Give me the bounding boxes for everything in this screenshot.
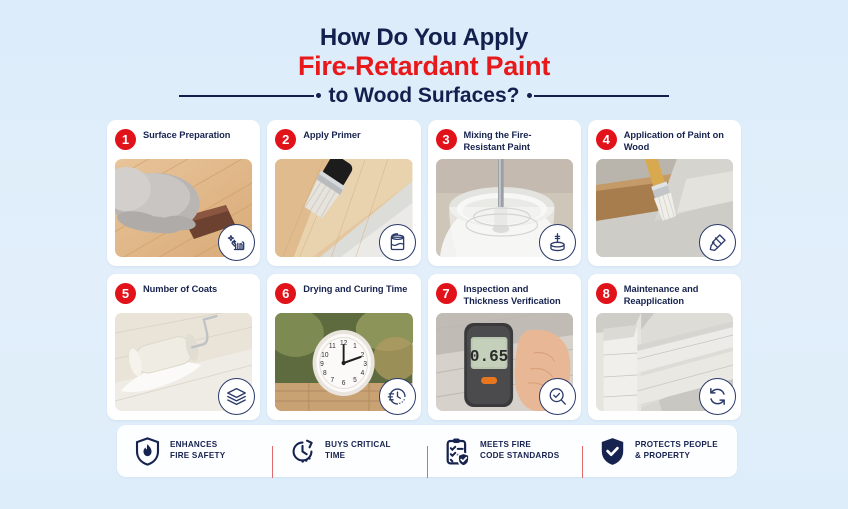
svg-text:2: 2 bbox=[361, 352, 365, 359]
step-number-badge: 8 bbox=[596, 283, 617, 304]
step-card-6[interactable]: 6 Drying and Curing Time 1212 bbox=[267, 274, 420, 420]
step-number-badge: 2 bbox=[275, 129, 296, 150]
benefit-label: ENHANCES FIRE SAFETY bbox=[170, 440, 225, 461]
step-number-badge: 6 bbox=[275, 283, 296, 304]
clipboard-shield-icon bbox=[444, 437, 471, 466]
paint-brush-icon bbox=[699, 224, 736, 261]
benefit-label: PROTECTS PEOPLE & PROPERTY bbox=[635, 440, 718, 461]
svg-text:0.65: 0.65 bbox=[469, 347, 507, 367]
step-title: Surface Preparation bbox=[143, 128, 230, 142]
svg-text:4: 4 bbox=[361, 370, 365, 377]
sparkle-hand-icon bbox=[218, 224, 255, 261]
step-number-badge: 1 bbox=[115, 129, 136, 150]
step-title: Mixing the Fire-Resistant Paint bbox=[464, 128, 573, 153]
title-line-2-highlight: Fire-Retardant Paint bbox=[0, 51, 848, 82]
step-title: Inspection and Thickness Verification bbox=[464, 282, 573, 307]
paint-mixer-icon bbox=[539, 224, 576, 261]
svg-text:6: 6 bbox=[342, 380, 346, 387]
clock-arrow-icon bbox=[289, 437, 316, 466]
steps-grid: 1 Surface Preparation bbox=[107, 120, 741, 420]
shield-check-icon bbox=[599, 437, 626, 466]
benefit-item-fire-safety: ENHANCES FIRE SAFETY bbox=[117, 437, 272, 466]
clock-speed-icon bbox=[379, 378, 416, 415]
step-number-badge: 4 bbox=[596, 129, 617, 150]
step-card-7[interactable]: 7 Inspection and Thickness Verification bbox=[428, 274, 581, 420]
step-title: Application of Paint on Wood bbox=[624, 128, 733, 153]
step-card-1[interactable]: 1 Surface Preparation bbox=[107, 120, 260, 266]
svg-text:1: 1 bbox=[353, 343, 357, 350]
benefits-bar: ENHANCES FIRE SAFETY BUYS CRITICAL TIME bbox=[117, 425, 737, 477]
svg-text:5: 5 bbox=[353, 377, 357, 384]
title-line-3: to Wood Surfaces? bbox=[329, 83, 520, 108]
svg-text:7: 7 bbox=[331, 377, 335, 384]
step-title: Maintenance and Reapplication bbox=[624, 282, 733, 307]
step-number-badge: 3 bbox=[436, 129, 457, 150]
svg-text:3: 3 bbox=[364, 361, 368, 368]
title-rule-left bbox=[179, 93, 321, 98]
svg-text:8: 8 bbox=[323, 370, 327, 377]
svg-text:11: 11 bbox=[329, 343, 336, 350]
page-title: How Do You Apply Fire-Retardant Paint to… bbox=[0, 24, 848, 108]
svg-text:9: 9 bbox=[320, 361, 324, 368]
step-number-badge: 7 bbox=[436, 283, 457, 304]
step-number-badge: 5 bbox=[115, 283, 136, 304]
step-card-4[interactable]: 4 Application of Paint on Wood bbox=[588, 120, 741, 266]
step-card-3[interactable]: 3 Mixing the Fire-Resistant Paint bbox=[428, 120, 581, 266]
refresh-cycle-icon bbox=[699, 378, 736, 415]
title-rule-right bbox=[527, 93, 669, 98]
step-title: Drying and Curing Time bbox=[303, 282, 407, 296]
benefit-item-buys-time: BUYS CRITICAL TIME bbox=[272, 437, 427, 466]
step-title: Apply Primer bbox=[303, 128, 360, 142]
magnifier-check-icon bbox=[539, 378, 576, 415]
benefit-item-code-standards: MEETS FIRE CODE STANDARDS bbox=[427, 437, 582, 466]
benefit-item-protects-people: PROTECTS PEOPLE & PROPERTY bbox=[582, 437, 737, 466]
step-card-2[interactable]: 2 Apply Primer bbox=[267, 120, 420, 266]
benefit-label: MEETS FIRE CODE STANDARDS bbox=[480, 440, 559, 461]
layers-icon bbox=[218, 378, 255, 415]
step-title: Number of Coats bbox=[143, 282, 217, 296]
shield-flame-icon bbox=[134, 437, 161, 466]
step-card-8[interactable]: 8 Maintenance and Reapplication bbox=[588, 274, 741, 420]
step-card-5[interactable]: 5 Number of Coats bbox=[107, 274, 260, 420]
paint-can-icon bbox=[379, 224, 416, 261]
svg-text:10: 10 bbox=[321, 352, 329, 359]
benefit-label: BUYS CRITICAL TIME bbox=[325, 440, 391, 461]
title-line-1: How Do You Apply bbox=[0, 24, 848, 51]
